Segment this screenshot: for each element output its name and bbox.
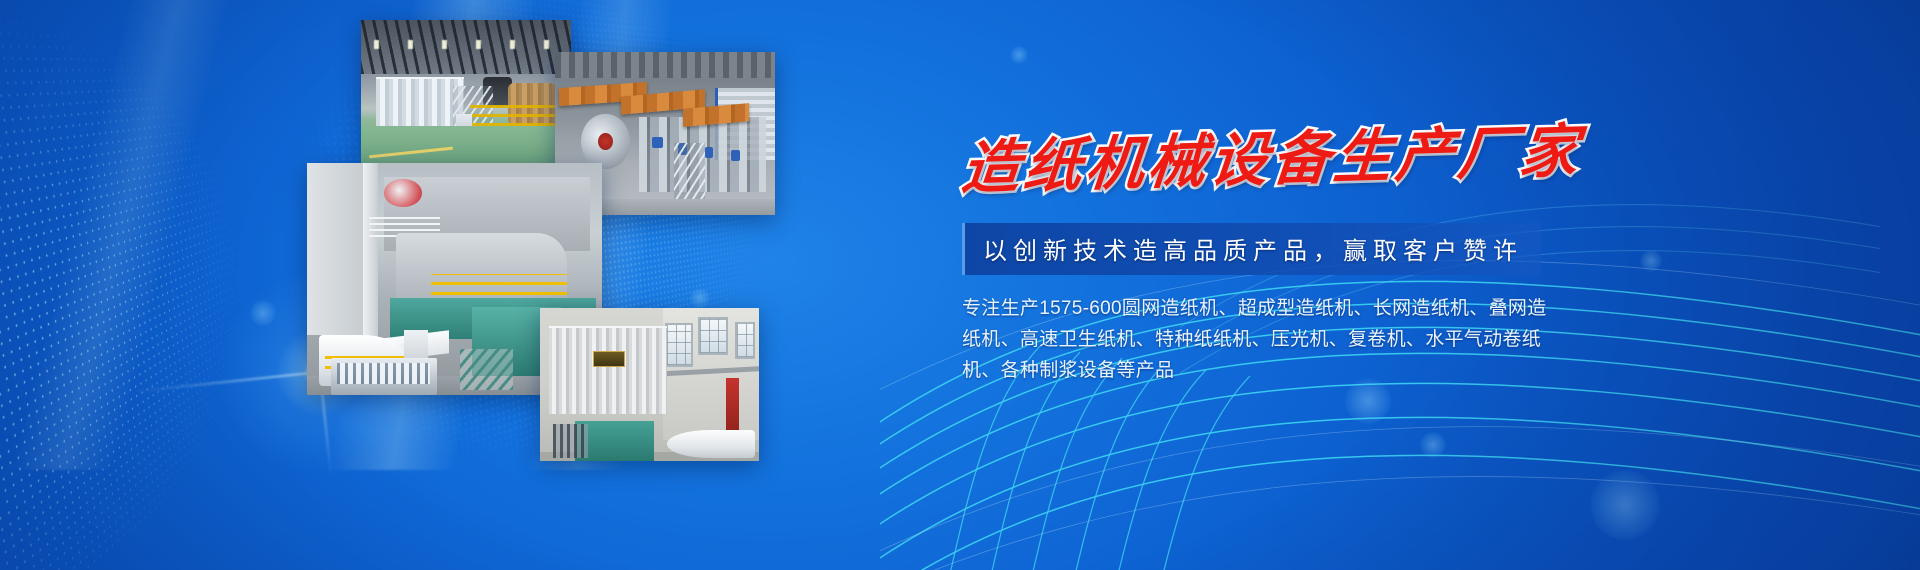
photo-dryer-enclosure <box>540 308 759 461</box>
banner-description: 专注生产1575-600圆网造纸机、超成型造纸机、长网造纸机、叠网造纸机、高速卫… <box>962 293 1562 386</box>
photo-paper-machine-hall <box>361 20 571 163</box>
banner-subtitle: 以创新技术造高品质产品，赢取客户赞许 <box>983 231 1523 266</box>
promo-banner: 造纸机械设备生产厂家 以创新技术造高品质产品，赢取客户赞许 专注生产1575-6… <box>0 0 1920 570</box>
banner-text-block: 造纸机械设备生产厂家 以创新技术造高品质产品，赢取客户赞许 专注生产1575-6… <box>962 138 1642 386</box>
banner-subtitle-band: 以创新技术造高品质产品，赢取客户赞许 <box>962 223 1541 275</box>
